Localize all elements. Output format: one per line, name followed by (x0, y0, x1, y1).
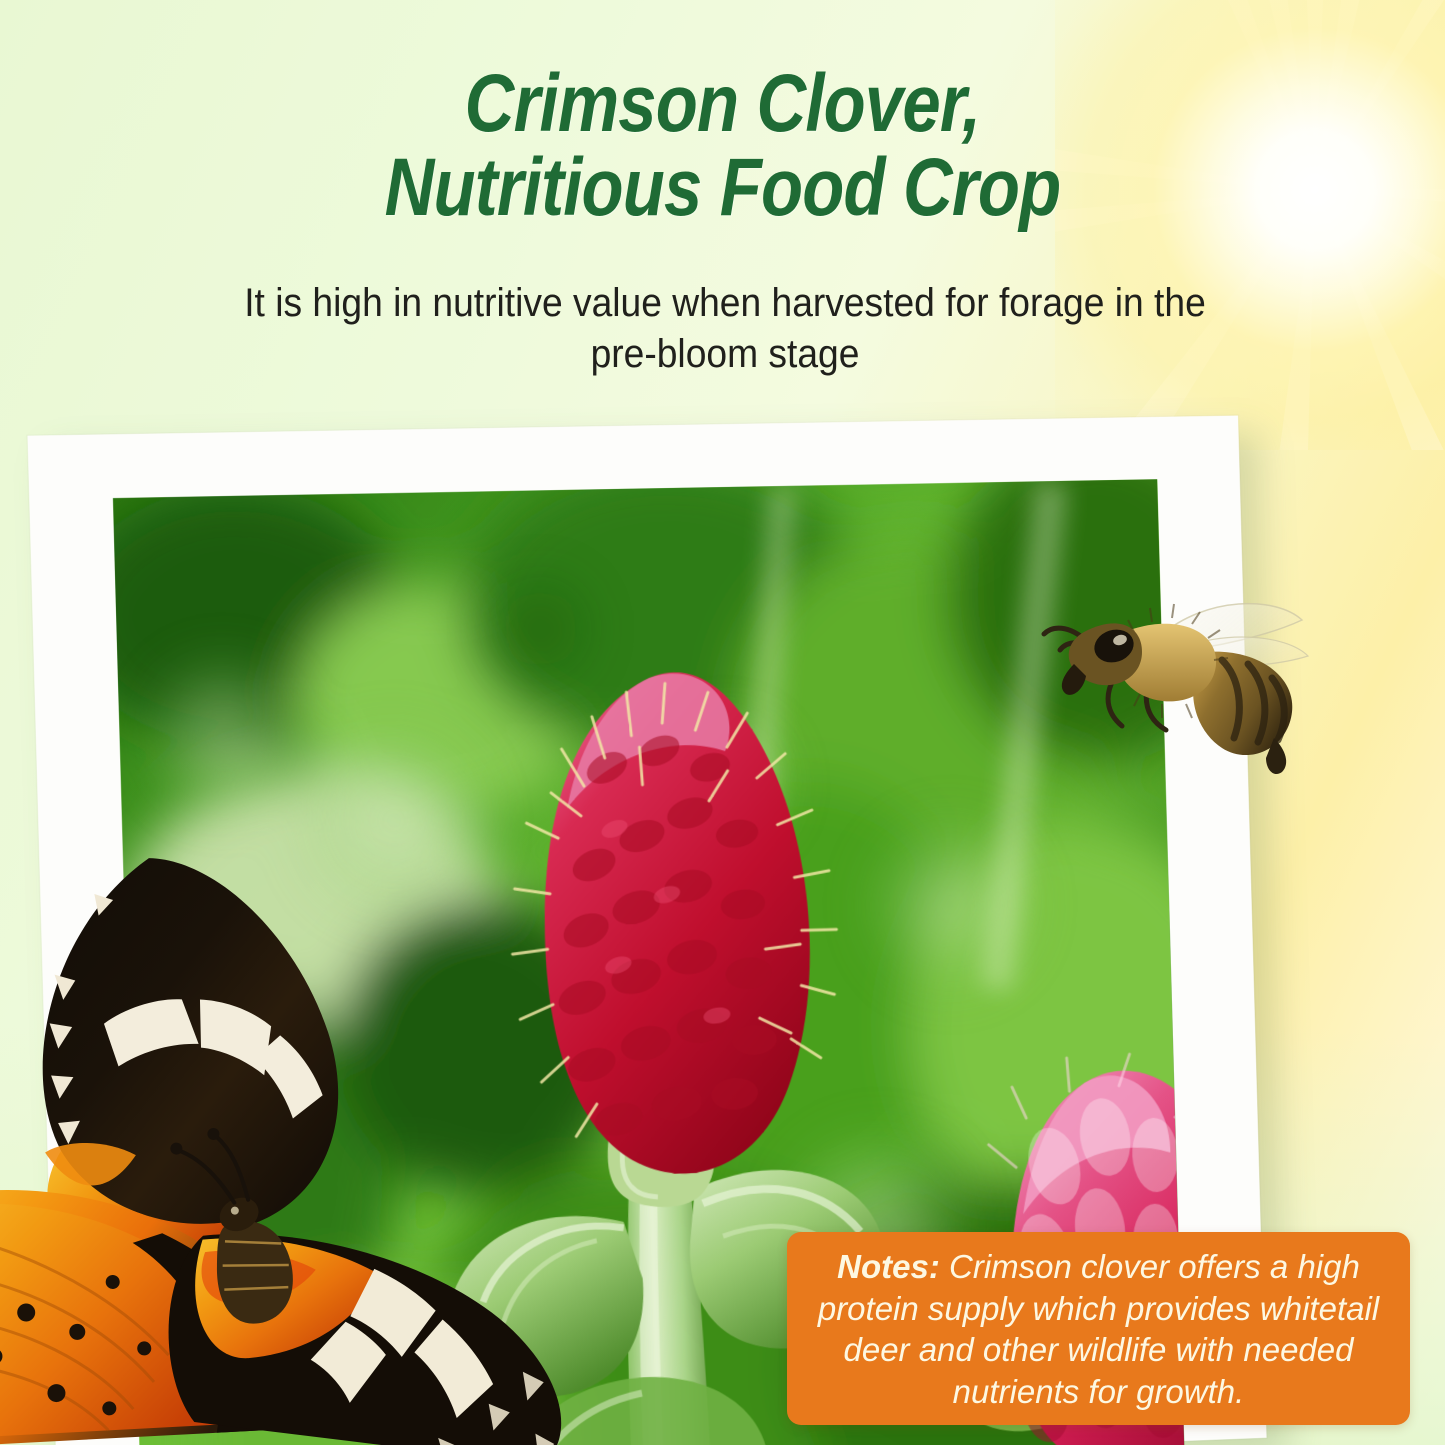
poster-canvas: Crimson Clover, Nutritious Food Crop It … (0, 0, 1445, 1445)
page-title-line-2: Nutritious Food Crop (116, 146, 1330, 230)
honey-bee-icon (1010, 590, 1320, 790)
page-subtitle: It is high in nutritive value when harve… (214, 278, 1237, 380)
page-title-line-1: Crimson Clover, (465, 58, 981, 149)
page-title: Crimson Clover, Nutritious Food Crop (116, 62, 1330, 229)
notes-space (940, 1248, 949, 1285)
butterfly-icon (0, 835, 600, 1445)
notes-label: Notes: (837, 1248, 940, 1285)
notes-callout: Notes: Crimson clover offers a high prot… (787, 1232, 1410, 1425)
